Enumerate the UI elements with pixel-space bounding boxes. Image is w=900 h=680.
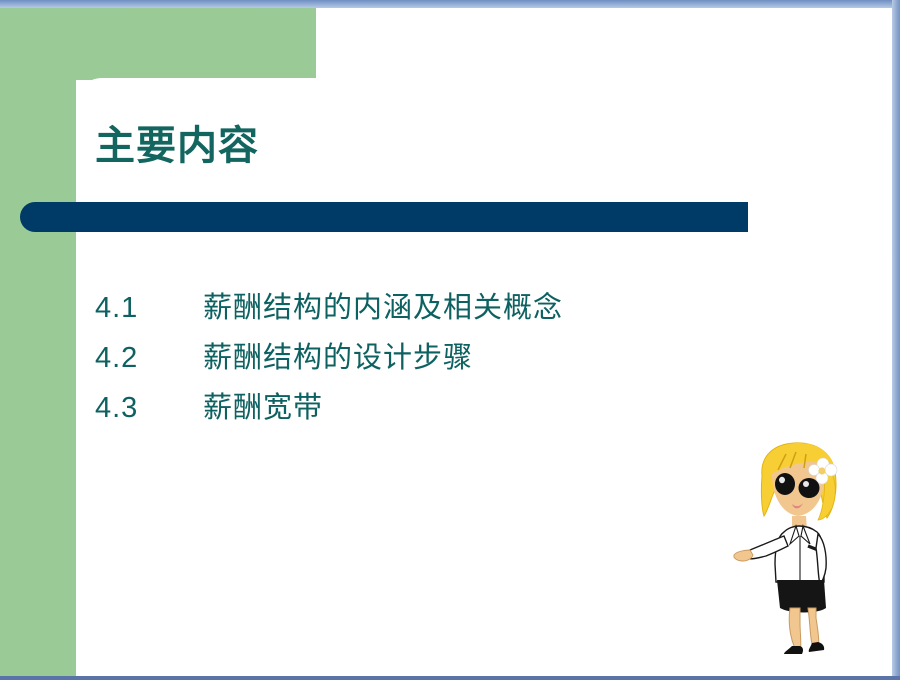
- green-side-panel: [0, 8, 76, 676]
- page-title: 主要内容: [95, 124, 259, 168]
- list-item-label: 薪酬结构的内涵及相关概念: [203, 283, 563, 333]
- list-item: 4.1 薪酬结构的内涵及相关概念: [95, 283, 755, 333]
- outline-list: 4.1 薪酬结构的内涵及相关概念 4.2 薪酬结构的设计步骤 4.3 薪酬宽带: [95, 283, 755, 433]
- list-item-number: 4.1: [95, 283, 203, 333]
- window-frame-right: [892, 0, 900, 680]
- list-item: 4.2 薪酬结构的设计步骤: [95, 333, 755, 383]
- title-divider-bar: [20, 202, 748, 232]
- list-item-number: 4.2: [95, 333, 203, 383]
- list-item-number: 4.3: [95, 383, 203, 433]
- cartoon-businesswoman-icon: [728, 440, 868, 655]
- list-item-label: 薪酬结构的设计步骤: [203, 333, 473, 383]
- list-item: 4.3 薪酬宽带: [95, 383, 755, 433]
- presentation-slide: 主要内容 4.1 薪酬结构的内涵及相关概念 4.2 薪酬结构的设计步骤 4.3 …: [0, 0, 900, 680]
- window-frame-bottom: [0, 676, 900, 680]
- green-top-block: [0, 8, 316, 80]
- window-frame-top: [0, 0, 900, 8]
- list-item-label: 薪酬宽带: [203, 383, 323, 433]
